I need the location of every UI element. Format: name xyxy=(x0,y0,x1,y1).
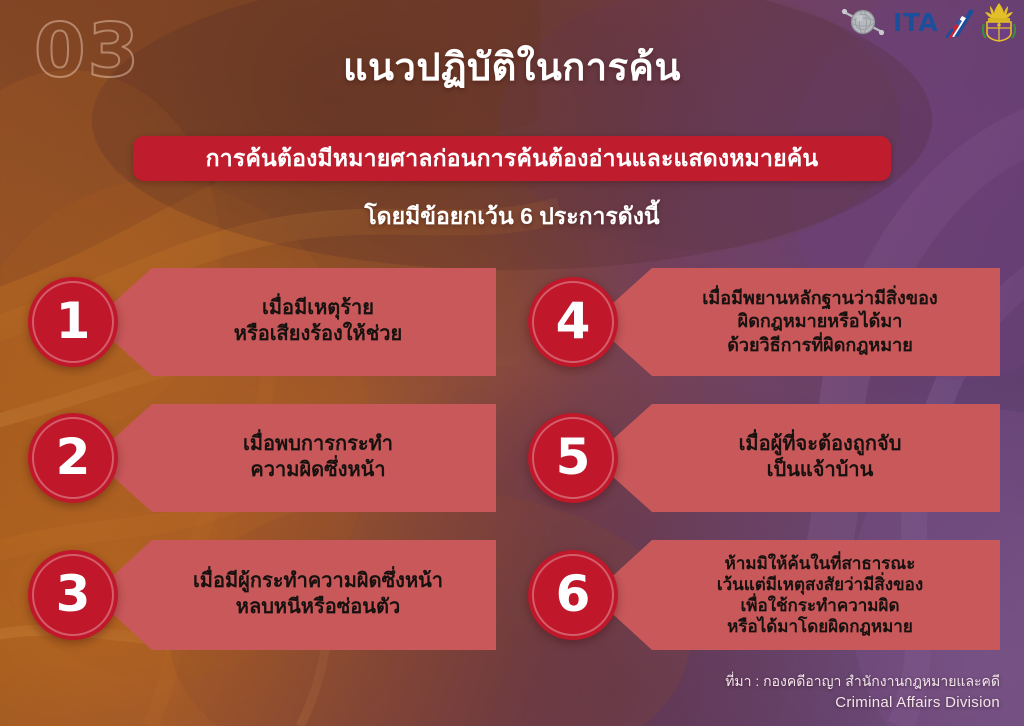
source-attribution-english: Criminal Affairs Division xyxy=(725,692,1000,715)
exception-text-6: ห้ามมิให้ค้นในที่สาธารณะ เว้นแต่มีเหตุสง… xyxy=(592,547,1000,644)
exception-text-line: ด้วยวิธีการที่ผิดกฎหมาย xyxy=(654,334,986,357)
ita-wordmark-logo: ITA xyxy=(892,5,976,39)
exception-number-6: 6 xyxy=(556,569,591,619)
exception-badge-4: 4 xyxy=(528,277,618,367)
exception-text-line: หลบหนีหรือซ่อนตัว xyxy=(154,595,482,621)
exception-arrow-5: เมื่อผู้ที่จะต้องถูกจับ เป็นแจ้าบ้าน xyxy=(592,404,1000,512)
exception-item-3: 3 เมื่อมีผู้กระทำความผิดซึ่งหน้า หลบหนีห… xyxy=(28,540,496,650)
exception-badge-6: 6 xyxy=(528,550,618,640)
exception-text-line: เมื่อมีเหตุร้าย xyxy=(154,296,482,322)
exception-badge-1: 1 xyxy=(28,277,118,367)
exception-text-line: เมื่อผู้ที่จะต้องถูกจับ xyxy=(654,432,986,458)
exception-item-4: 4 เมื่อมีพยานหลักฐานว่ามีสิ่งของ ผิดกฎหม… xyxy=(528,268,1000,376)
svg-text:ITA: ITA xyxy=(893,8,938,37)
exception-text-4: เมื่อมีพยานหลักฐานว่ามีสิ่งของ ผิดกฎหมาย… xyxy=(592,281,1000,362)
exception-arrow-2: เมื่อพบการกระทำ ความผิดซึ่งหน้า xyxy=(92,404,496,512)
exception-number-3: 3 xyxy=(56,569,91,619)
exception-badge-2: 2 xyxy=(28,413,118,503)
exception-text-line: เพื่อใช้กระทำความผิด xyxy=(654,595,986,616)
exception-text-line: ห้ามมิให้ค้นในที่สาธารณะ xyxy=(654,553,986,574)
exception-text-3: เมื่อมีผู้กระทำความผิดซึ่งหน้า หลบหนีหรื… xyxy=(92,563,496,626)
exception-text-line: ความผิดซึ่งหน้า xyxy=(154,458,482,484)
exception-text-line: เมื่อมีพยานหลักฐานว่ามีสิ่งของ xyxy=(654,287,986,310)
exception-text-line: เมื่อพบการกระทำ xyxy=(154,432,482,458)
exception-text-line: ผิดกฎหมายหรือได้มา xyxy=(654,310,986,333)
exception-arrow-6: ห้ามมิให้ค้นในที่สาธารณะ เว้นแต่มีเหตุสง… xyxy=(592,540,1000,650)
exception-item-2: 2 เมื่อพบการกระทำ ความผิดซึ่งหน้า xyxy=(28,404,496,512)
exception-number-2: 2 xyxy=(56,432,91,482)
source-attribution: ที่มา : กองคดีอาญา สำนักงานกฎหมายและคดี … xyxy=(725,671,1000,715)
exception-arrow-4: เมื่อมีพยานหลักฐานว่ามีสิ่งของ ผิดกฎหมาย… xyxy=(592,268,1000,376)
exception-number-1: 1 xyxy=(56,296,91,346)
exception-text-line: เว้นแต่มีเหตุสงสัยว่ามีสิ่งของ xyxy=(654,574,986,595)
exception-text-line: หรือได้มาโดยผิดกฎหมาย xyxy=(654,616,986,637)
exception-badge-5: 5 xyxy=(528,413,618,503)
exception-text-line: เมื่อมีผู้กระทำความผิดซึ่งหน้า xyxy=(154,569,482,595)
exception-number-5: 5 xyxy=(556,432,591,482)
exception-arrow-3: เมื่อมีผู้กระทำความผิดซึ่งหน้า หลบหนีหรื… xyxy=(92,540,496,650)
exception-item-6: 6 ห้ามมิให้ค้นในที่สาธารณะ เว้นแต่มีเหตุ… xyxy=(528,540,1000,650)
exceptions-subtitle: โดยมีข้อยกเว้น 6 ประการดังนี้ xyxy=(0,199,1024,235)
exception-text-line: หรือเสียงร้องให้ช่วย xyxy=(154,322,482,348)
exception-text-5: เมื่อผู้ที่จะต้องถูกจับ เป็นแจ้าบ้าน xyxy=(592,426,1000,489)
page-title: แนวปฏิบัติในการค้น xyxy=(0,36,1024,97)
exception-text-2: เมื่อพบการกระทำ ความผิดซึ่งหน้า xyxy=(92,426,496,489)
exception-text-1: เมื่อมีเหตุร้าย หรือเสียงร้องให้ช่วย xyxy=(92,290,496,353)
exception-item-5: 5 เมื่อผู้ที่จะต้องถูกจับ เป็นแจ้าบ้าน xyxy=(528,404,1000,512)
exception-text-line: เป็นแจ้าบ้าน xyxy=(654,458,986,484)
exception-arrow-1: เมื่อมีเหตุร้าย หรือเสียงร้องให้ช่วย xyxy=(92,268,496,376)
main-rule-banner: การค้นต้องมีหมายศาลก่อนการค้นต้องอ่านและ… xyxy=(133,136,891,181)
exception-number-4: 4 xyxy=(556,296,591,346)
main-rule-banner-text: การค้นต้องมีหมายศาลก่อนการค้นต้องอ่านและ… xyxy=(206,141,819,177)
exception-badge-3: 3 xyxy=(28,550,118,640)
source-attribution-thai: ที่มา : กองคดีอาญา สำนักงานกฎหมายและคดี xyxy=(725,671,1000,692)
exception-item-1: 1 เมื่อมีเหตุร้าย หรือเสียงร้องให้ช่วย xyxy=(28,268,496,376)
